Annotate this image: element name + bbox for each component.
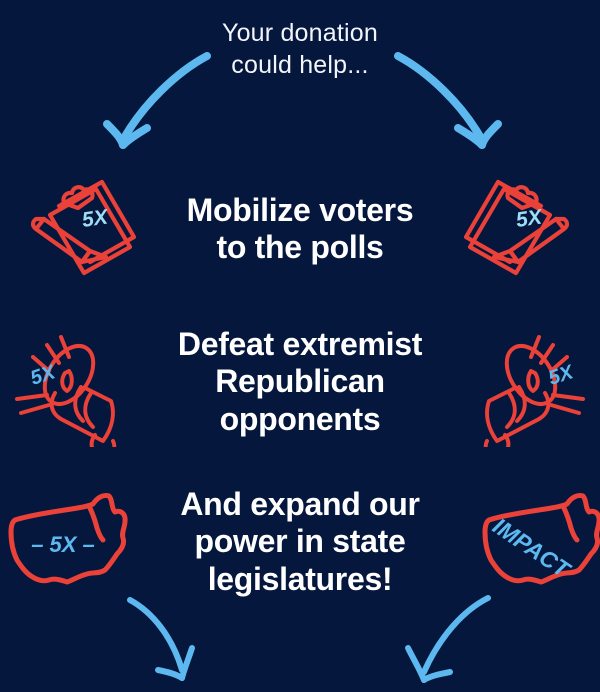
headline-line-3: legislatures! [135,561,465,598]
megaphone-icon: 5X [467,317,597,447]
usa-map-icon: IMPACT [467,482,600,602]
row-mobilize-voters: 5X Mobilize voters to the polls 5X [0,170,600,288]
headline-mobilize-voters: Mobilize voters to the polls [140,192,460,266]
megaphone-badge-left: 5X [28,361,60,390]
headline-line-1: Mobilize voters [140,192,460,229]
megaphone-icon: 5X [3,317,133,447]
headline-expand-state-power: And expand our power in state legislatur… [135,486,465,597]
map-badge-left: – 5X – [31,532,95,557]
headline-defeat-extremist-republicans: Defeat extremist Republican opponents [135,326,465,437]
headline-line-2: to the polls [140,229,460,266]
clipboard-pencil-icon: 5X [462,175,574,283]
donation-impact-poster: Your donation could help... [0,0,600,692]
intro-line-1: Your donation [0,18,600,50]
row-defeat-extremist-republicans: 5X Defeat extremist Republican opponents [0,312,600,452]
headline-line-2: power in state [135,523,465,560]
headline-line-3: opponents [135,401,465,438]
clipboard-pencil-icon: 5X [26,175,138,283]
row-expand-state-power: – 5X – And expand our power in state leg… [0,472,600,612]
intro-text: Your donation could help... [0,18,600,81]
usa-map-icon: – 5X – [0,482,133,602]
headline-line-1: And expand our [135,486,465,523]
headline-line-2: Republican [135,363,465,400]
intro-line-2: could help... [0,50,600,82]
headline-line-1: Defeat extremist [135,326,465,363]
